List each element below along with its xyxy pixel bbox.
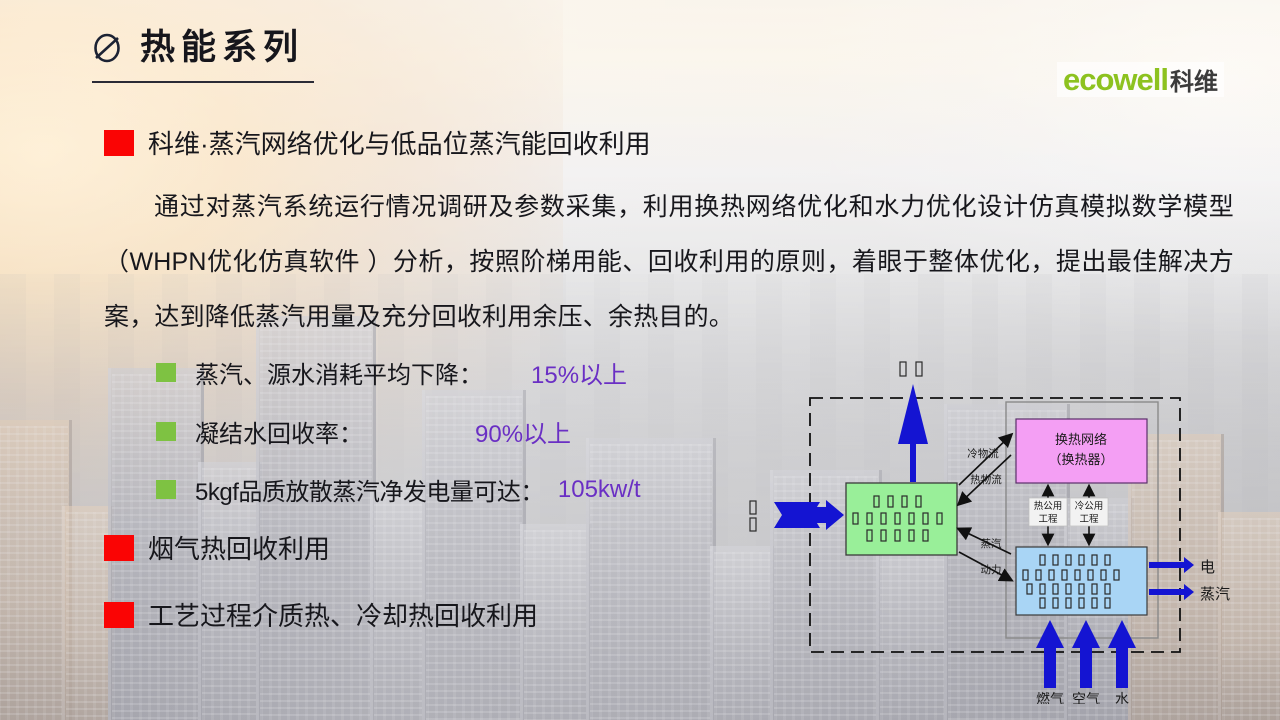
hot-stream-label: 热物流: [970, 473, 1002, 486]
bullet-item-flue-gas: 烟气热回收利用: [104, 529, 330, 566]
bullet-item-steam-network: 科维·蒸汽网络优化与低品位蒸汽能回收利用: [104, 124, 651, 161]
pink-box-subtitle: （换热器）: [1048, 452, 1113, 467]
gas-input-label: 燃气: [1036, 691, 1064, 704]
green-square-bullet-icon: [156, 480, 176, 499]
air-input-arrow: [1072, 620, 1100, 688]
steam-output-arrow: [1149, 584, 1194, 600]
diagram-canvas: 换热网络 （换热器）: [748, 352, 1280, 704]
top-arrow-glyphs: [900, 362, 922, 376]
heat-exchanger-network-box: [1016, 419, 1147, 483]
air-input-label: 空气: [1072, 691, 1100, 704]
metric-label: 5kgf品质放散蒸汽净发电量可达：: [195, 472, 544, 507]
green-square-bullet-icon: [156, 363, 176, 382]
steam-output-label: 蒸汽: [1200, 586, 1230, 603]
slide: 热能系列 ecowell 科维 科维·蒸汽网络优化与低品位蒸汽能回收利用 通过对…: [0, 0, 1280, 720]
metric-value: 15%以上: [531, 355, 627, 390]
gas-input-arrow: [1036, 620, 1064, 688]
water-input-arrow: [1108, 620, 1136, 688]
body-paragraph: 通过对蒸汽系统运行情况调研及参数采集，利用换热网络优化和水力优化设计仿真模拟数学…: [104, 180, 1234, 345]
metric-row: 蒸汽、源水消耗平均下降： 15%以上: [156, 355, 627, 390]
metric-value: 90%以上: [475, 414, 571, 449]
red-square-bullet-icon: [104, 130, 134, 156]
power-label: 动力: [981, 563, 1002, 576]
green-square-bullet-icon: [156, 422, 176, 441]
hot-utility-label-line1: 热公用: [1034, 500, 1063, 512]
metric-label: 蒸汽、源水消耗平均下降：: [195, 355, 483, 390]
red-square-bullet-icon: [104, 535, 134, 561]
cold-utility-label-line2: 工程: [1079, 514, 1099, 525]
metric-row: 5kgf品质放散蒸汽净发电量可达： 105kw/t: [156, 472, 641, 507]
pink-box-title: 换热网络: [1055, 432, 1107, 447]
circle-slash-icon: [92, 31, 122, 65]
logo-chinese-name: 科维: [1170, 71, 1218, 95]
ecowell-logo: ecowell 科维: [1057, 62, 1224, 97]
electric-output-label: 电: [1200, 559, 1215, 576]
blue-utility-box: [1016, 547, 1147, 615]
steam-label: 蒸汽: [981, 537, 1002, 550]
green-process-box: [846, 483, 957, 555]
slide-header: 热能系列: [92, 30, 314, 83]
electric-output-arrow: [1149, 557, 1194, 573]
metric-row: 凝结水回收率： 90%以上: [156, 414, 571, 449]
process-flow-diagram: 换热网络 （换热器）: [748, 352, 1280, 704]
bullet-label: 科维·蒸汽网络优化与低品位蒸汽能回收利用: [148, 124, 651, 161]
bullet-label: 烟气热回收利用: [148, 529, 330, 566]
page-title: 热能系列: [140, 30, 304, 65]
bullet-label: 工艺过程介质热、冷却热回收利用: [148, 596, 538, 633]
water-input-label: 水: [1115, 691, 1129, 704]
title-underline: [92, 81, 314, 83]
cold-utility-label-line1: 冷公用: [1075, 500, 1104, 512]
bullet-item-process-heat: 工艺过程介质热、冷却热回收利用: [104, 596, 538, 633]
logo-wordmark: ecowell: [1063, 64, 1168, 95]
metric-label: 凝结水回收率：: [195, 414, 363, 449]
red-square-bullet-icon: [104, 602, 134, 628]
hot-utility-label-line2: 工程: [1038, 514, 1058, 525]
cold-stream-label: 冷物流: [967, 447, 999, 460]
metric-value: 105kw/t: [558, 476, 641, 504]
left-arrow-glyphs: [750, 501, 756, 531]
